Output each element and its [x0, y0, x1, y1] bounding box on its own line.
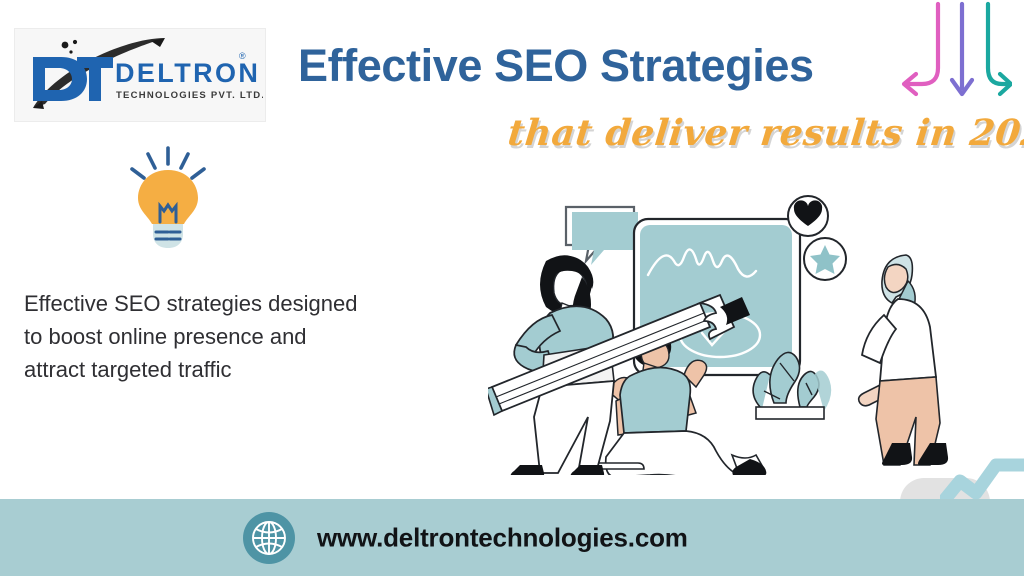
speech-bubble-icon — [566, 207, 638, 265]
logo-tagline-text: TECHNOLOGIES PVT. LTD. — [116, 90, 263, 101]
website-url[interactable]: www.deltrontechnologies.com — [317, 522, 688, 553]
body-line-2: to boost online presence and — [24, 320, 444, 353]
logo-artwork: DELTRON ® TECHNOLOGIES PVT. LTD. — [15, 30, 263, 120]
bulb-glass — [138, 170, 198, 224]
bulb-base — [153, 224, 183, 248]
body-line-3: attract targeted traffic — [24, 353, 444, 386]
page-subtitle: that deliver results in 2023 — [506, 112, 1024, 154]
logo-name-text: DELTRON — [115, 58, 260, 88]
body-line-1: Effective SEO strategies designed — [24, 287, 444, 320]
arrow-curve-left-icon — [906, 4, 938, 84]
hero-illustration — [488, 185, 1024, 480]
page-title: Effective SEO Strategies — [298, 40, 814, 92]
company-logo: DELTRON ® TECHNOLOGIES PVT. LTD. — [14, 28, 266, 122]
globe-icon — [243, 512, 295, 564]
footer-bar: www.deltrontechnologies.com — [0, 499, 1024, 576]
lightbulb-icon — [118, 142, 218, 257]
heart-badge — [788, 196, 828, 236]
body-copy: Effective SEO strategies designed to boo… — [24, 287, 444, 386]
arrow-curve-right-icon — [988, 4, 1010, 84]
star-badge — [804, 238, 846, 280]
decorative-arrows — [892, 0, 1012, 115]
poster-canvas: DELTRON ® TECHNOLOGIES PVT. LTD. Effecti… — [0, 0, 1024, 576]
logo-trademark-text: ® — [239, 51, 246, 61]
person-standing-right — [859, 255, 948, 465]
